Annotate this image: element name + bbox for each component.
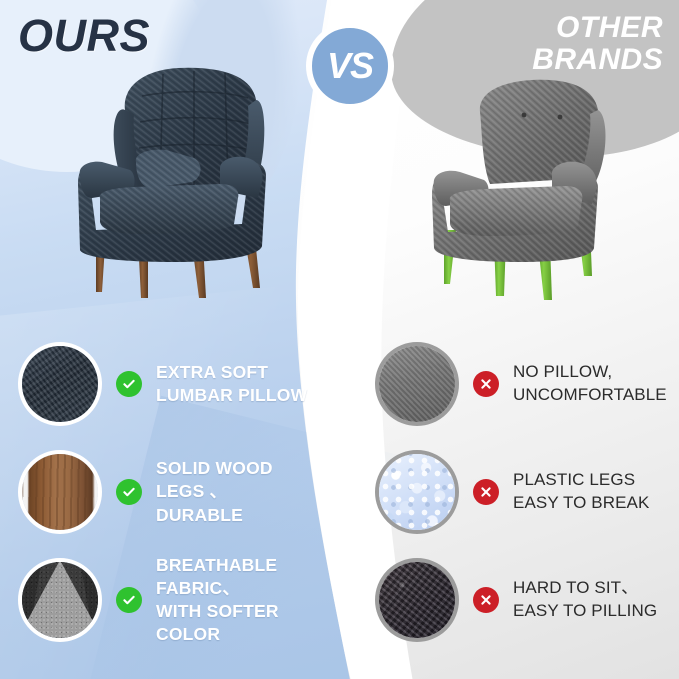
feature-line-2: WITH SOFTER COLOR bbox=[156, 600, 318, 646]
tuft-button bbox=[522, 113, 527, 118]
feature-row: PLASTIC LEGS EASY TO BREAK bbox=[375, 438, 670, 546]
other-brands-feature-list: NO PILLOW, UNCOMFORTABLE PLASTIC LEGS EA… bbox=[375, 330, 670, 654]
feature-label: EXTRA SOFT LUMBAR PILLOW bbox=[156, 361, 307, 407]
check-circle-icon bbox=[116, 587, 142, 613]
feature-label: SOLID WOOD LEGS 、 DURABLE bbox=[156, 457, 318, 526]
comparison-infographic: OURS OTHER BRANDS VS bbox=[0, 0, 679, 679]
product-image-other-brands bbox=[420, 68, 630, 303]
feature-line-2: DURABLE bbox=[156, 504, 318, 527]
x-circle-icon bbox=[473, 479, 499, 505]
product-image-ours bbox=[70, 48, 295, 298]
feature-line-1: HARD TO SIT、 bbox=[513, 577, 657, 600]
other-brands-line1: OTHER bbox=[413, 12, 663, 44]
feature-line-1: PLASTIC LEGS bbox=[513, 469, 649, 492]
thumbnail-navy-fabric-pillow bbox=[18, 342, 102, 426]
vs-badge: VS bbox=[306, 22, 394, 110]
thumbnail-pilled-fabric bbox=[375, 558, 459, 642]
feature-line-2: LUMBAR PILLOW bbox=[156, 384, 307, 407]
feature-label: HARD TO SIT、 EASY TO PILLING bbox=[513, 577, 657, 623]
thumbnail-gray-chair-no-pillow bbox=[375, 342, 459, 426]
feature-line-1: EXTRA SOFT bbox=[156, 361, 307, 384]
feature-row: BREATHABLE FABRIC、 WITH SOFTER COLOR bbox=[18, 546, 318, 654]
x-circle-icon bbox=[473, 587, 499, 613]
feature-line-2: EASY TO PILLING bbox=[513, 600, 657, 623]
thumbnail-wood-leg-grain bbox=[18, 450, 102, 534]
feature-line-2: EASY TO BREAK bbox=[513, 492, 649, 515]
ours-feature-list: EXTRA SOFT LUMBAR PILLOW SOLID WOOD LEGS… bbox=[18, 330, 318, 654]
feature-row: NO PILLOW, UNCOMFORTABLE bbox=[375, 330, 670, 438]
feature-row: EXTRA SOFT LUMBAR PILLOW bbox=[18, 330, 318, 438]
feature-line-2: UNCOMFORTABLE bbox=[513, 384, 667, 407]
feature-line-1: SOLID WOOD LEGS 、 bbox=[156, 457, 318, 503]
check-circle-icon bbox=[116, 479, 142, 505]
thumbnail-breathable-fabric-cone bbox=[18, 558, 102, 642]
tuft-button bbox=[558, 115, 563, 120]
feature-label: PLASTIC LEGS EASY TO BREAK bbox=[513, 469, 649, 515]
feature-row: HARD TO SIT、 EASY TO PILLING bbox=[375, 546, 670, 654]
check-circle-icon bbox=[116, 371, 142, 397]
feature-label: BREATHABLE FABRIC、 WITH SOFTER COLOR bbox=[156, 554, 318, 646]
thumbnail-plastic-pellets bbox=[375, 450, 459, 534]
feature-line-1: BREATHABLE FABRIC、 bbox=[156, 554, 318, 600]
x-circle-icon bbox=[473, 371, 499, 397]
feature-line-1: NO PILLOW, bbox=[513, 361, 667, 384]
feature-label: NO PILLOW, UNCOMFORTABLE bbox=[513, 361, 667, 407]
feature-row: SOLID WOOD LEGS 、 DURABLE bbox=[18, 438, 318, 546]
vs-label: VS bbox=[327, 45, 373, 87]
